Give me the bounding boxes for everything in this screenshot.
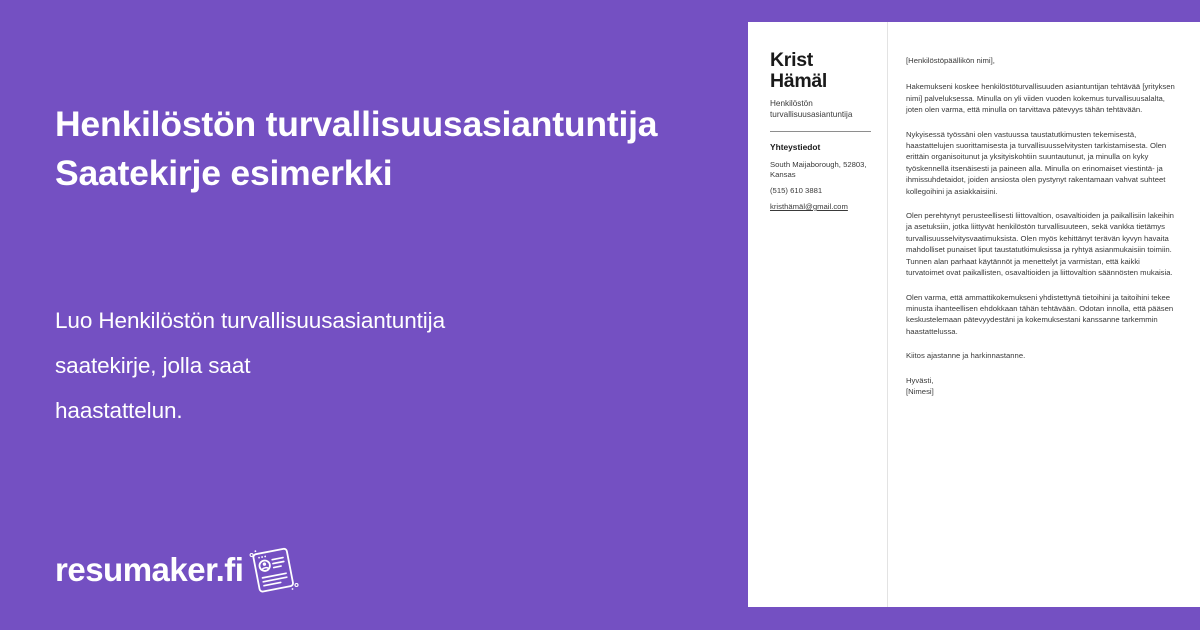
applicant-name: Krist Hämäl [770,50,871,92]
letter-paragraph: Olen perehtynyt perusteellisesti liittov… [906,210,1180,278]
contact-phone: (515) 610 3881 [770,186,871,196]
brand-wordmark: resumaker.fi [55,553,243,586]
applicant-last-name: Hämäl [770,71,871,92]
contact-section-heading: Yhteystiedot [770,142,871,153]
promo-subtext: Luo Henkilöstön turvallisuusasiantuntija… [55,298,695,433]
contact-address: South Maijaborough, 52803, Kansas [770,160,871,180]
cover-letter-preview[interactable]: Krist Hämäl Henkilöstön turvallisuusasia… [748,22,1200,607]
applicant-role: Henkilöstön turvallisuusasiantuntija [770,99,871,120]
letter-paragraph: Hakemukseni koskee henkilöstöturvallisuu… [906,81,1180,115]
applicant-first-name: Krist [770,50,871,71]
subtext-line-3: haastattelun. [55,398,183,423]
resume-document-icon [246,545,302,593]
subtext-line-1: Luo Henkilöstön turvallisuusasiantuntija [55,308,445,333]
letter-paragraph: Olen varma, että ammattikokemukseni yhdi… [906,292,1180,338]
promo-panel: Henkilöstön turvallisuusasiantuntija Saa… [0,0,748,630]
subtext-line-2: saatekirje, jolla saat [55,353,250,378]
contact-email[interactable]: kristhämäl@gmail.com [770,202,871,212]
sidebar-divider [770,131,871,132]
letter-closing: Hyvästi, [906,375,1180,386]
cover-letter-body: [Henkilöstöpäällikön nimi], Hakemukseni … [888,22,1200,607]
headline-line-2: Saatekirje esimerkki [55,153,392,193]
brand-logo[interactable]: resumaker.fi [55,545,302,593]
letter-salutation: [Henkilöstöpäällikön nimi], [906,55,1180,66]
page-title: Henkilöstön turvallisuusasiantuntija Saa… [55,100,735,198]
promo-banner: Henkilöstön turvallisuusasiantuntija Saa… [0,0,1200,630]
letter-signature: [Nimesi] [906,386,1180,397]
letter-paragraph: Nykyisessä työssäni olen vastuussa taust… [906,129,1180,197]
headline-line-1: Henkilöstön turvallisuusasiantuntija [55,104,657,144]
cover-letter-sidebar: Krist Hämäl Henkilöstön turvallisuusasia… [748,22,888,607]
letter-thanks: Kiitos ajastanne ja harkinnastanne. [906,350,1180,361]
